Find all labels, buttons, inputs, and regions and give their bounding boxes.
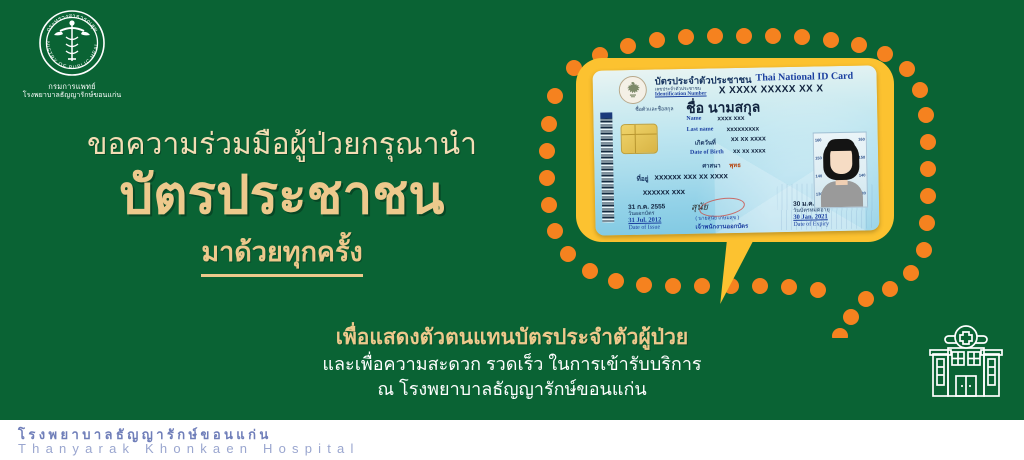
poster-banner: กระทรวงสาธารณสุข MINISTRY OF PUBLIC HEAL… xyxy=(0,0,1024,420)
card-name-value-en: xxxx xxx xyxy=(717,115,744,123)
ministry-logo-caption: กรมการแพทย์ โรงพยาบาลธัญญารักษ์ขอนแก่น xyxy=(12,83,132,100)
ministry-logo: กระทรวงสาธารณสุข MINISTRY OF PUBLIC HEAL… xyxy=(12,6,132,100)
card-barcode xyxy=(600,112,614,222)
headline-line3: มาด้วยทุกครั้ง xyxy=(201,230,362,277)
card-issue-date-en: 31 Jul. 2012 xyxy=(628,216,661,224)
ministry-of-public-health-seal-icon: กระทรวงสาธารณสุข MINISTRY OF PUBLIC HEAL… xyxy=(35,6,109,80)
logo-caption-line1: กรมการแพทย์ xyxy=(12,83,132,92)
portrait-fringe xyxy=(827,139,855,152)
description-line2: และเพื่อความสะดวก รวดเร็ว ในการเข้ารับบร… xyxy=(262,352,762,376)
card-chip xyxy=(620,124,658,155)
ruler-mark-0: 160 xyxy=(815,137,822,142)
ruler-mark-2b: 140 xyxy=(859,173,866,178)
footer-hospital-name-en: Thanyarak Khonkaen Hospital xyxy=(18,441,360,456)
card-signature-line2: เจ้าพนักงานออกบัตร xyxy=(695,221,748,232)
card-name-label-th: ชื่อตัวและชื่อสกุล xyxy=(635,105,674,114)
footer-bar: โรงพยาบาลธัญญารักษ์ขอนแก่น Thanyarak Kho… xyxy=(0,420,1024,460)
card-address-line1: xxxxxx xxx xx xxxx xyxy=(654,171,728,181)
speech-bubble-group: บัตรประจำตัวประชาชน Thai National ID Car… xyxy=(528,18,948,338)
card-dob-label-th: เกิดวันที่ xyxy=(695,137,716,147)
garuda-emblem-icon xyxy=(619,76,648,105)
card-religion-label: ศาสนา xyxy=(702,160,721,170)
headline-line1: ขอความร่วมมือผู้ป่วยกรุณานำ xyxy=(52,126,512,164)
card-expiry-date-en: 30 Jan. 2021 xyxy=(793,213,828,221)
description-line3: ณ โรงพยาบาลธัญญารักษ์ขอนแก่น xyxy=(262,377,762,401)
card-id-label-en: Identification Number xyxy=(655,91,707,98)
ruler-mark-0b: 160 xyxy=(858,137,865,142)
ruler-mark-2: 140 xyxy=(815,173,822,178)
card-signature-ink: สุนัย xyxy=(691,200,708,214)
card-dob-value-en: xx xx xxxx xyxy=(733,147,766,155)
card-issue-label-en: Date of Issue xyxy=(628,224,660,231)
card-title-en: Thai National ID Card xyxy=(756,71,854,84)
card-address-line2: xxxxxx xxx xyxy=(643,187,685,197)
ruler-mark-1: 150 xyxy=(815,155,822,160)
card-religion-value: พุทธ xyxy=(729,160,741,170)
thai-national-id-card: บัตรประจำตัวประชาชน Thai National ID Car… xyxy=(592,65,879,235)
card-portrait-photo: 160 160 150 150 140 140 130 130 xyxy=(813,131,868,208)
card-name-label-en: Name xyxy=(686,116,701,122)
card-lastname-value-en: xxxxxxxxx xyxy=(727,126,760,134)
logo-caption-line2: โรงพยาบาลธัญญารักษ์ขอนแก่น xyxy=(12,92,132,100)
card-expiry-label-en: Date of Expiry xyxy=(793,221,829,228)
card-dob-label-en: Date of Birth xyxy=(690,149,724,156)
ruler-mark-1b: 150 xyxy=(858,155,865,160)
card-id-number: X XXXX XXXXX XX X xyxy=(719,83,824,96)
headline-block: ขอความร่วมมือผู้ป่วยกรุณานำ บัตรประชาชน … xyxy=(52,126,512,277)
card-dob-value-th: xx xx xxxx xyxy=(731,135,766,143)
headline-line2: บัตรประชาชน xyxy=(52,166,512,227)
card-address-label: ที่อยู่ xyxy=(636,174,648,184)
card-lastname-label-en: Last name xyxy=(687,126,714,133)
